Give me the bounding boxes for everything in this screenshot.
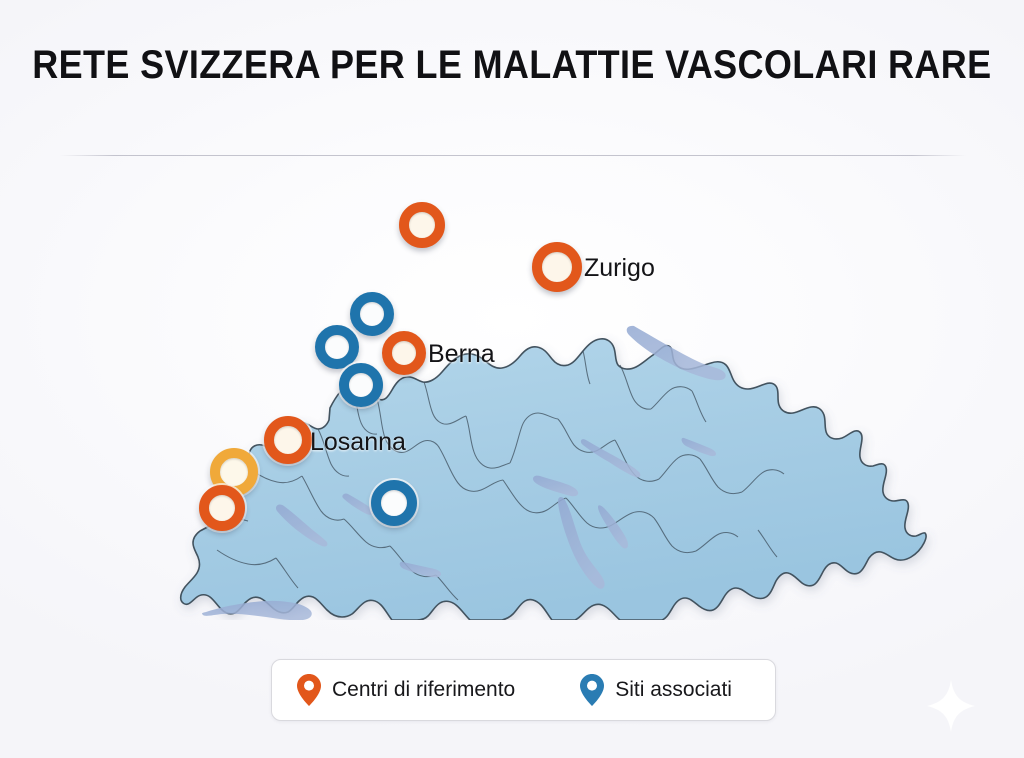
marker-label-zurigo: Zurigo <box>584 254 655 283</box>
marker-fribourg[interactable] <box>339 363 383 407</box>
sparkle-icon <box>925 678 977 734</box>
marker-berna[interactable] <box>382 331 426 375</box>
map-pin-icon <box>296 673 322 707</box>
page-title: RETE SVIZZERA PER LE MALATTIE VASCOLARI … <box>32 43 991 88</box>
switzerland-map-svg <box>0 150 1024 620</box>
map-land-group <box>181 339 926 620</box>
legend-label-reference-centers: Centri di riferimento <box>332 678 515 702</box>
marker-label-berna: Berna <box>428 340 495 369</box>
marker-biel[interactable] <box>350 292 394 336</box>
marker-basel[interactable] <box>399 202 445 248</box>
map-pin-icon <box>579 673 605 707</box>
title-bar: RETE SVIZZERA PER LE MALATTIE VASCOLARI … <box>0 0 1024 130</box>
legend-label-associated-sites: Siti associati <box>615 678 732 702</box>
legend-panel: Centri di riferimento Siti associati <box>271 659 776 721</box>
switzerland-landmass <box>181 339 926 620</box>
marker-label-losanna: Losanna <box>310 428 406 457</box>
marker-sion[interactable] <box>371 480 417 526</box>
marker-zurigo[interactable] <box>532 242 582 292</box>
marker-ginevra[interactable] <box>199 485 245 531</box>
legend-item-associated-sites[interactable]: Siti associati <box>579 673 732 707</box>
slide-root: RETE SVIZZERA PER LE MALATTIE VASCOLARI … <box>0 0 1024 758</box>
marker-neuchatel[interactable] <box>315 325 359 369</box>
marker-losanna[interactable] <box>264 416 312 464</box>
legend-item-reference-centers[interactable]: Centri di riferimento <box>296 673 515 707</box>
switzerland-map: Zurigo Berna Losanna <box>0 150 1024 620</box>
